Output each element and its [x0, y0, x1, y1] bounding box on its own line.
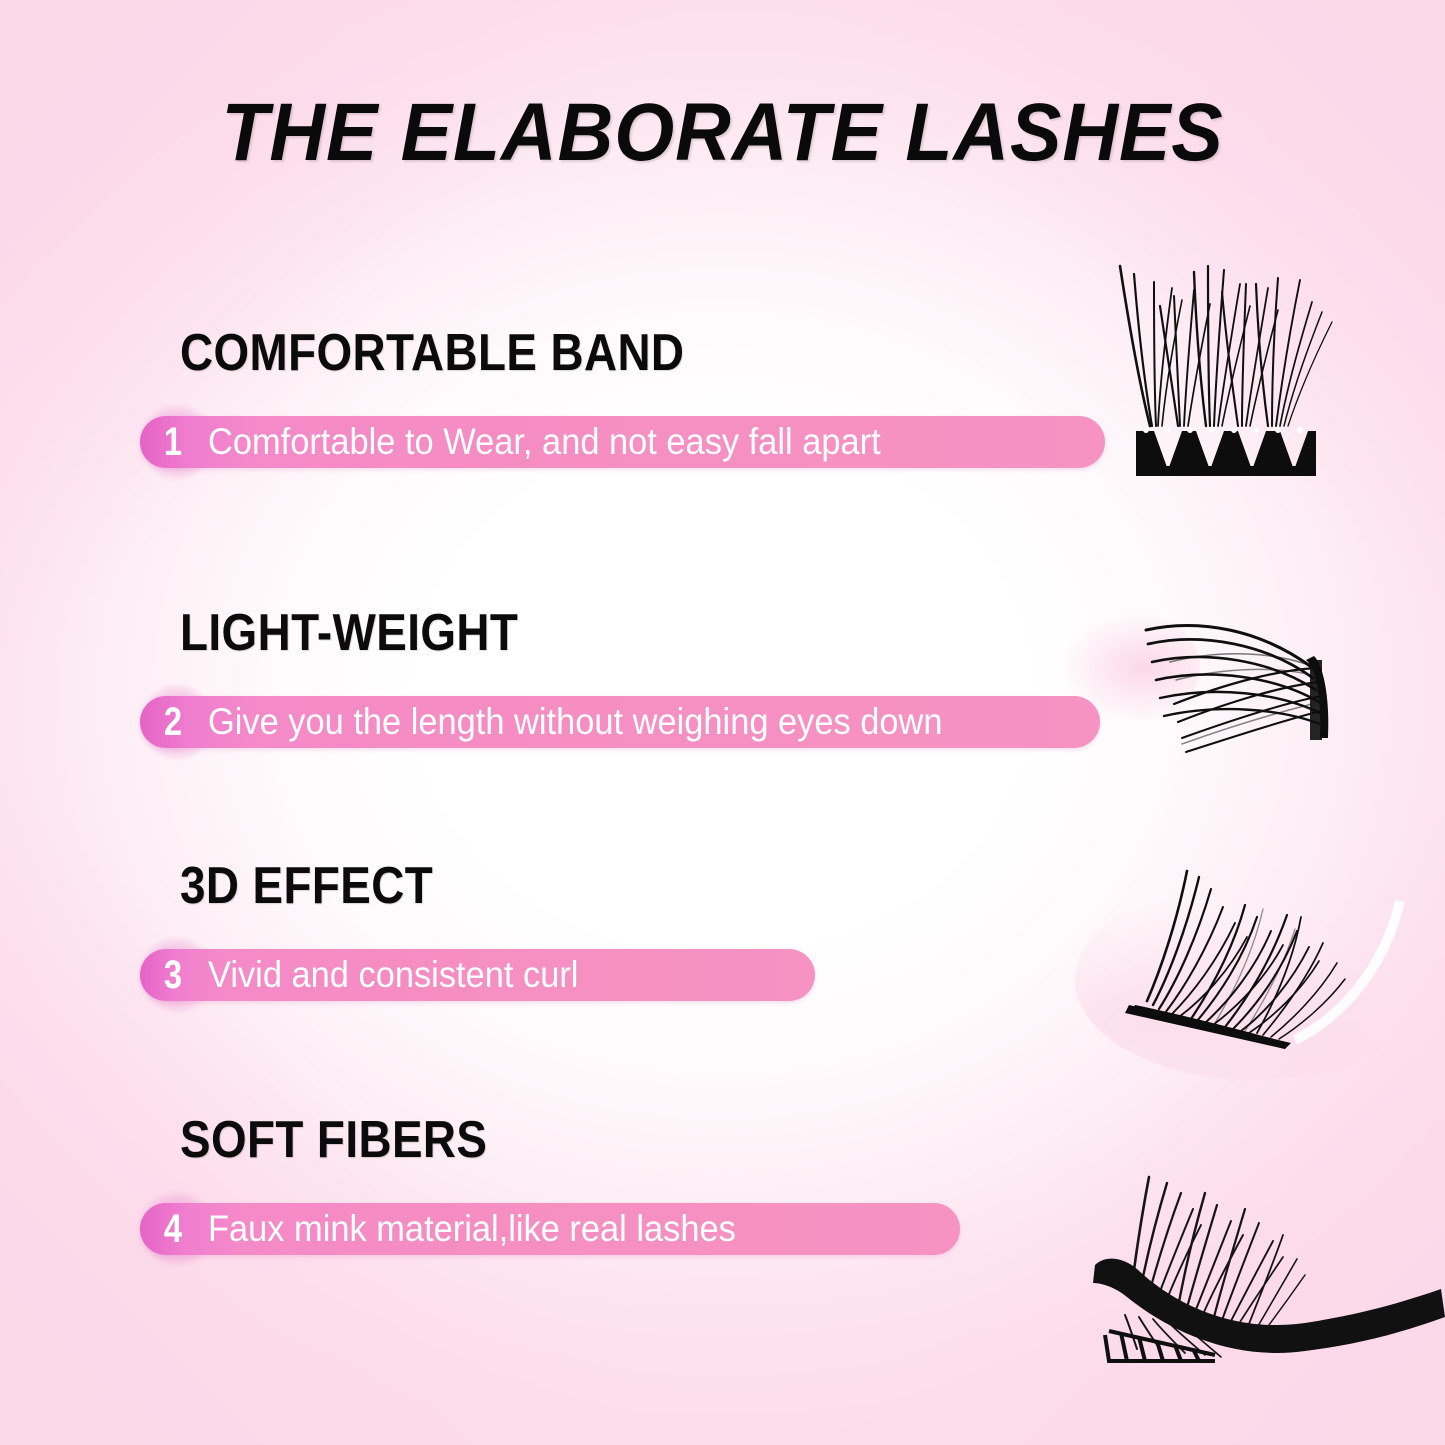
feature-pill-2[interactable]: 2 Give you the length without weighing e…: [140, 685, 1100, 759]
feature-row-4: SOFT FIBERS 4 Faux mink material,like re…: [0, 1112, 1445, 1302]
feature-number-4: 4: [161, 1203, 186, 1255]
feature-row-2: LIGHT-WEIGHT 2 Give you the length witho…: [0, 605, 1445, 795]
feature-text-4: Faux mink material,like real lashes: [208, 1203, 764, 1255]
feature-row-3: 3D EFFECT 3 Vivid and consistent curl: [0, 858, 1445, 1048]
feature-number-2: 2: [161, 696, 186, 748]
product-feature-poster: THE ELABORATE LASHES COMFORTABLE BAND 1 …: [0, 0, 1445, 1445]
feature-heading-1: COMFORTABLE BAND: [180, 325, 684, 381]
feature-text-1: Comfortable to Wear, and not easy fall a…: [208, 416, 909, 468]
feature-pill-1[interactable]: 1 Comfortable to Wear, and not easy fall…: [140, 405, 1105, 479]
page-title: THE ELABORATE LASHES: [43, 86, 1401, 180]
feature-pill-4[interactable]: 4 Faux mink material,like real lashes: [140, 1192, 960, 1266]
feature-text-3: Vivid and consistent curl: [208, 949, 606, 1001]
feature-pill-3[interactable]: 3 Vivid and consistent curl: [140, 938, 815, 1012]
feature-row-1: COMFORTABLE BAND 1 Comfortable to Wear, …: [0, 325, 1445, 515]
feature-text-2: Give you the length without weighing eye…: [208, 696, 970, 748]
feature-heading-2: LIGHT-WEIGHT: [180, 605, 518, 661]
feature-heading-4: SOFT FIBERS: [180, 1112, 487, 1168]
feature-heading-3: 3D EFFECT: [180, 858, 433, 914]
feature-number-3: 3: [161, 949, 186, 1001]
feature-number-1: 1: [161, 416, 186, 468]
